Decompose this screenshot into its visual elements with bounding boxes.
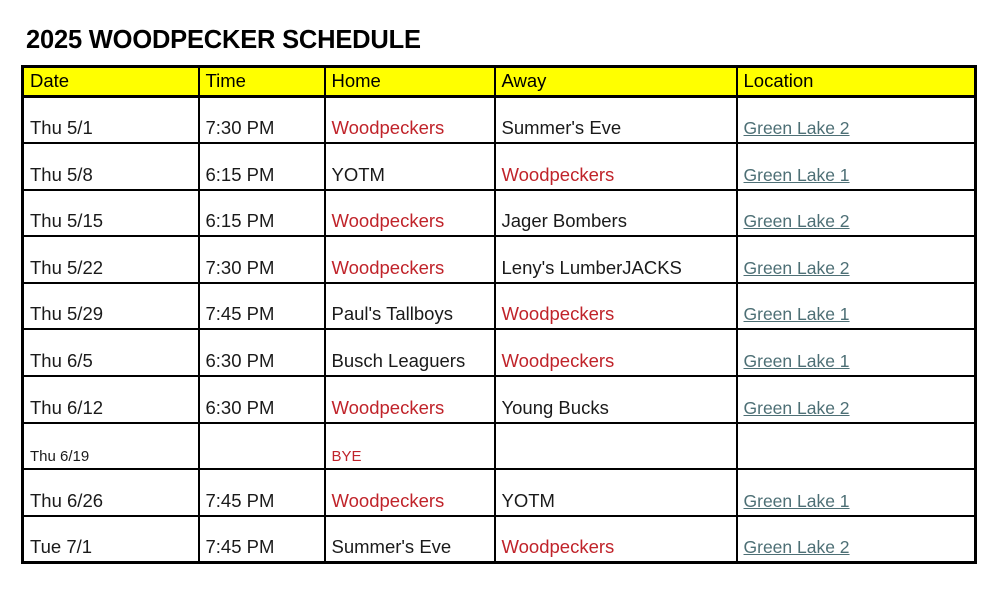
location-link[interactable]: Green Lake 2	[744, 211, 850, 231]
cell-home-team: Woodpeckers	[325, 236, 495, 283]
away-team-name: Leny's LumberJACKS	[502, 257, 682, 278]
cell-away-team: Woodpeckers	[495, 143, 737, 190]
location-link[interactable]: Green Lake 2	[744, 118, 850, 138]
away-team-name: Jager Bombers	[502, 210, 627, 231]
cell-time: 6:15 PM	[199, 143, 325, 190]
home-team-highlight: Woodpeckers	[332, 210, 445, 231]
cell-date: Tue 7/1	[23, 516, 199, 563]
location-link[interactable]: Green Lake 2	[744, 398, 850, 418]
location-link[interactable]: Green Lake 1	[744, 491, 850, 511]
cell-away-team: Young Bucks	[495, 376, 737, 423]
table-row: Tue 7/17:45 PMSummer's EveWoodpeckersGre…	[23, 516, 976, 563]
cell-away-team: Woodpeckers	[495, 329, 737, 376]
cell-time: 7:45 PM	[199, 469, 325, 516]
cell-away-team	[495, 423, 737, 470]
home-team-highlight: BYE	[332, 448, 362, 465]
cell-time: 7:45 PM	[199, 516, 325, 563]
table-row: Thu 5/17:30 PMWoodpeckersSummer's EveGre…	[23, 97, 976, 144]
column-header-away[interactable]: Away	[495, 67, 737, 97]
cell-location: Green Lake 1	[737, 143, 976, 190]
table-body: Thu 5/17:30 PMWoodpeckersSummer's EveGre…	[23, 97, 976, 563]
table-row: Thu 6/19BYE	[23, 423, 976, 470]
away-team-name: Summer's Eve	[502, 117, 622, 138]
cell-home-team: Busch Leaguers	[325, 329, 495, 376]
cell-location: Green Lake 2	[737, 190, 976, 237]
cell-home-team: Woodpeckers	[325, 97, 495, 144]
cell-away-team: Woodpeckers	[495, 516, 737, 563]
cell-location	[737, 423, 976, 470]
cell-home-team: Paul's Tallboys	[325, 283, 495, 330]
column-header-time[interactable]: Time	[199, 67, 325, 97]
page-title: 2025 WOODPECKER SCHEDULE	[26, 28, 421, 54]
away-team-highlight: Woodpeckers	[502, 303, 615, 324]
column-header-date[interactable]: Date	[23, 67, 199, 97]
cell-home-team: Woodpeckers	[325, 190, 495, 237]
cell-away-team: YOTM	[495, 469, 737, 516]
location-link[interactable]: Green Lake 1	[744, 304, 850, 324]
home-team-name: Summer's Eve	[332, 536, 452, 557]
table-row: Thu 6/126:30 PMWoodpeckersYoung BucksGre…	[23, 376, 976, 423]
schedule-table: Date Time Home Away Location Thu 5/17:30…	[21, 65, 977, 564]
cell-date: Thu 5/22	[23, 236, 199, 283]
home-team-highlight: Woodpeckers	[332, 117, 445, 138]
cell-location: Green Lake 1	[737, 469, 976, 516]
away-team-name: YOTM	[502, 490, 555, 511]
cell-away-team: Jager Bombers	[495, 190, 737, 237]
cell-location: Green Lake 2	[737, 236, 976, 283]
cell-time: 6:30 PM	[199, 376, 325, 423]
location-link[interactable]: Green Lake 1	[744, 165, 850, 185]
cell-time: 7:45 PM	[199, 283, 325, 330]
home-team-highlight: Woodpeckers	[332, 257, 445, 278]
cell-location: Green Lake 2	[737, 97, 976, 144]
table-row: Thu 5/297:45 PMPaul's TallboysWoodpecker…	[23, 283, 976, 330]
cell-time: 7:30 PM	[199, 97, 325, 144]
cell-away-team: Summer's Eve	[495, 97, 737, 144]
cell-date: Thu 5/1	[23, 97, 199, 144]
cell-time	[199, 423, 325, 470]
cell-date: Thu 6/12	[23, 376, 199, 423]
table-row: Thu 6/56:30 PMBusch LeaguersWoodpeckersG…	[23, 329, 976, 376]
location-link[interactable]: Green Lake 1	[744, 351, 850, 371]
cell-location: Green Lake 2	[737, 516, 976, 563]
cell-home-team: Summer's Eve	[325, 516, 495, 563]
home-team-name: YOTM	[332, 164, 385, 185]
cell-date: Thu 6/26	[23, 469, 199, 516]
cell-time: 6:30 PM	[199, 329, 325, 376]
cell-date: Thu 5/29	[23, 283, 199, 330]
cell-location: Green Lake 1	[737, 283, 976, 330]
table-row: Thu 5/86:15 PMYOTMWoodpeckersGreen Lake …	[23, 143, 976, 190]
table-row: Thu 5/227:30 PMWoodpeckersLeny's LumberJ…	[23, 236, 976, 283]
location-link[interactable]: Green Lake 2	[744, 258, 850, 278]
schedule-page: 2025 WOODPECKER SCHEDULE Date Time Home …	[0, 0, 992, 590]
table-header: Date Time Home Away Location	[23, 67, 976, 97]
table-header-row: Date Time Home Away Location	[23, 67, 976, 97]
cell-home-team: BYE	[325, 423, 495, 470]
cell-home-team: YOTM	[325, 143, 495, 190]
column-header-home[interactable]: Home	[325, 67, 495, 97]
away-team-highlight: Woodpeckers	[502, 350, 615, 371]
away-team-highlight: Woodpeckers	[502, 536, 615, 557]
cell-home-team: Woodpeckers	[325, 376, 495, 423]
cell-date: Thu 6/5	[23, 329, 199, 376]
cell-time: 6:15 PM	[199, 190, 325, 237]
cell-date: Thu 5/8	[23, 143, 199, 190]
cell-date: Thu 6/19	[23, 423, 199, 470]
schedule-table-wrapper: Date Time Home Away Location Thu 5/17:30…	[21, 65, 974, 564]
home-team-name: Busch Leaguers	[332, 350, 466, 371]
away-team-name: Young Bucks	[502, 397, 609, 418]
table-row: Thu 6/267:45 PMWoodpeckersYOTMGreen Lake…	[23, 469, 976, 516]
away-team-highlight: Woodpeckers	[502, 164, 615, 185]
cell-location: Green Lake 1	[737, 329, 976, 376]
cell-home-team: Woodpeckers	[325, 469, 495, 516]
cell-away-team: Leny's LumberJACKS	[495, 236, 737, 283]
cell-away-team: Woodpeckers	[495, 283, 737, 330]
table-row: Thu 5/156:15 PMWoodpeckersJager BombersG…	[23, 190, 976, 237]
cell-date: Thu 5/15	[23, 190, 199, 237]
home-team-highlight: Woodpeckers	[332, 397, 445, 418]
cell-time: 7:30 PM	[199, 236, 325, 283]
cell-location: Green Lake 2	[737, 376, 976, 423]
location-link[interactable]: Green Lake 2	[744, 537, 850, 557]
column-header-location[interactable]: Location	[737, 67, 976, 97]
home-team-name: Paul's Tallboys	[332, 303, 453, 324]
home-team-highlight: Woodpeckers	[332, 490, 445, 511]
